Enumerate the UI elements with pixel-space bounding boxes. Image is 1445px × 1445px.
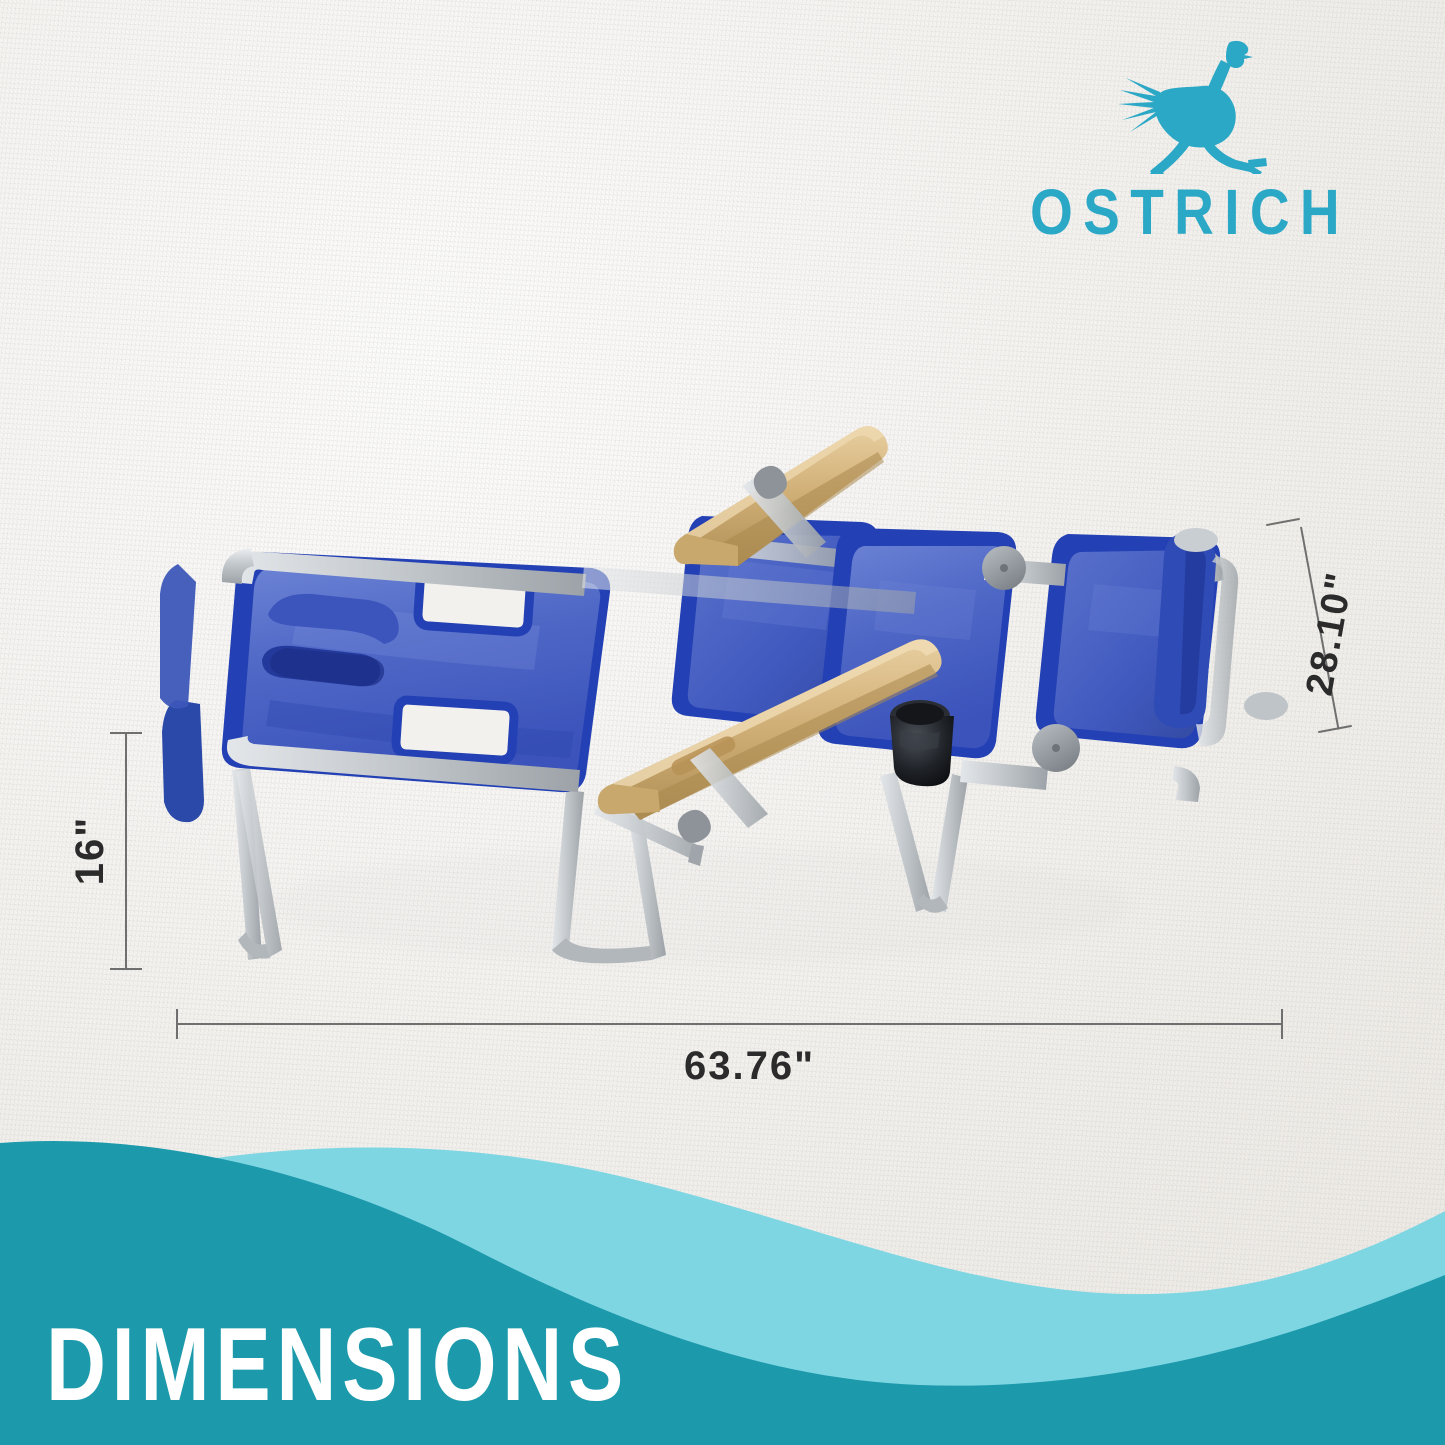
height-dimension-label: 16" [68, 816, 113, 885]
width-dimension-cap-left [176, 1009, 178, 1039]
height-dimension-cap-bottom [110, 968, 142, 970]
height-dimension-cap-top [110, 732, 142, 734]
width-dimension-cap-right [1281, 1009, 1283, 1039]
bottom-wave-banner: DIMENSIONS [0, 1115, 1445, 1445]
width-dimension-line [176, 1023, 1283, 1025]
side-pillow-flap [162, 700, 204, 822]
banner-title: DIMENSIONS [46, 1313, 629, 1417]
height-dimension-line [125, 732, 127, 970]
infographic-canvas: OSTRICH [0, 0, 1445, 1445]
width-dimension-label: 63.76" [684, 1044, 815, 1089]
mesh-cup-holder [890, 700, 954, 786]
